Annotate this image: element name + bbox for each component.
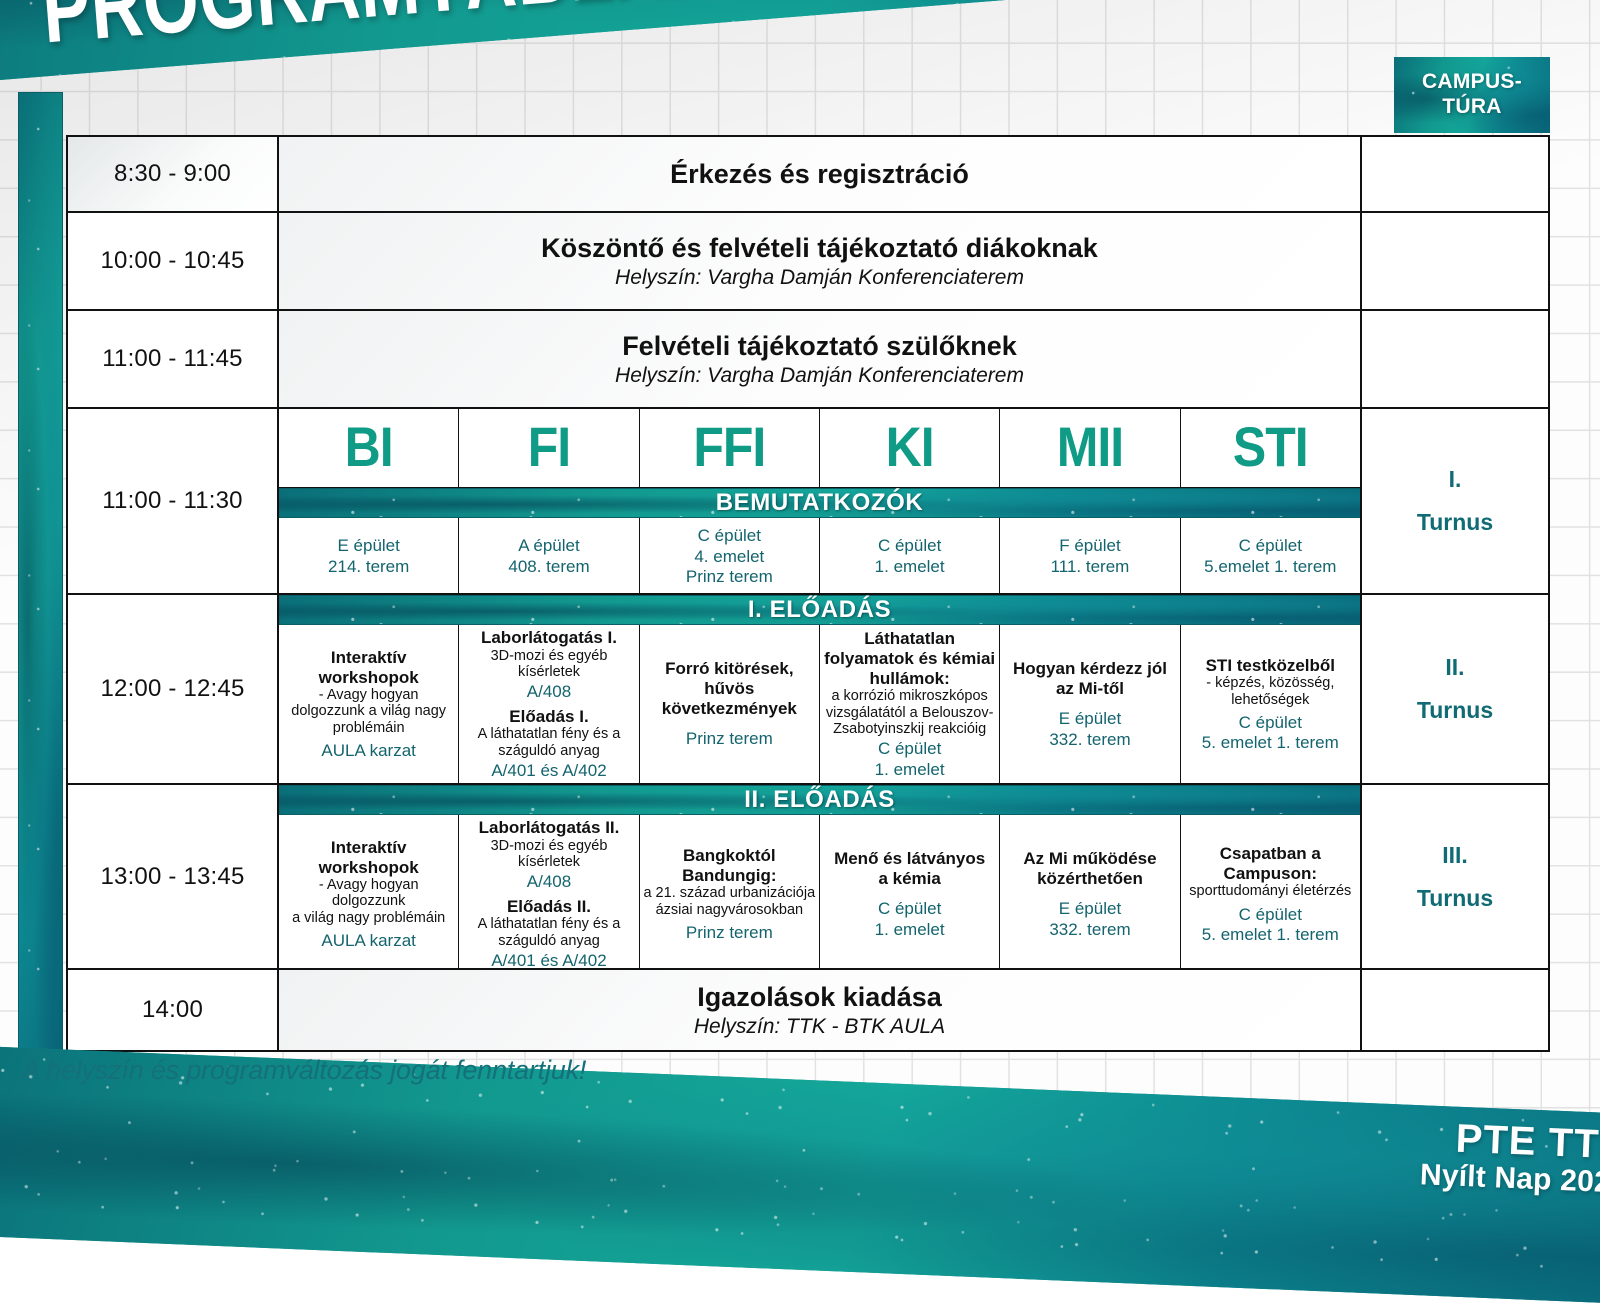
turnus-1-label: Turnus: [1417, 501, 1493, 544]
turnus-2: II. Turnus: [1362, 595, 1548, 783]
program-closing: Igazolások kiadása Helyszín: TTK - BTK A…: [279, 970, 1362, 1050]
closing-location: Helyszín: TTK - BTK AULA: [694, 1015, 945, 1039]
table-row-closing: 14:00 Igazolások kiadása Helyszín: TTK -…: [68, 970, 1548, 1050]
turnus-empty-3: [1362, 311, 1548, 407]
room-ki: C épület1. emelet: [820, 518, 1000, 598]
lecture-1-cell-bi[interactable]: Interaktívworkshopok - Avagy hogyandolgo…: [279, 625, 459, 784]
turnus-3: III. Turnus: [1362, 785, 1548, 968]
table-row-lecture-2: 13:00 - 13:45 II. ELŐADÁS Interaktívwork…: [68, 785, 1548, 970]
turnus-1: I. Turnus: [1362, 409, 1548, 593]
time-parents: 11:00 - 11:45: [68, 311, 279, 407]
turnus-empty-2: [1362, 213, 1548, 309]
parents-location: Helyszín: Vargha Damján Konferenciaterem: [615, 364, 1024, 388]
table-row-arrival: 8:30 - 9:00 Érkezés és regisztráció: [68, 137, 1548, 213]
parents-title: Felvételi tájékoztató szülőknek: [622, 331, 1017, 362]
department-fi[interactable]: FI: [459, 409, 639, 487]
program-table: 8:30 - 9:00 Érkezés és regisztráció 10:0…: [66, 135, 1550, 1052]
campus-tour-header: CAMPUS- TÚRA: [1394, 57, 1550, 133]
campus-tour-label-line1: CAMPUS-: [1422, 70, 1522, 95]
brand-open-day: Nyílt Nap 2026: [1419, 1158, 1600, 1200]
lecture-1-cell-sti[interactable]: STI testközelből - képzés, közösség,lehe…: [1181, 625, 1360, 784]
department-ffi[interactable]: FFI: [640, 409, 820, 487]
lecture-2-cell-ki[interactable]: Menő és látványosa kémia C épület1. emel…: [820, 815, 1000, 974]
turnus-1-number: I.: [1449, 458, 1462, 501]
band-eloadas-1: I. ELŐADÁS: [279, 595, 1360, 625]
lecture-2-cell-mii[interactable]: Az Mi működéseközérthetően E épület332. …: [1000, 815, 1180, 974]
department-ki[interactable]: KI: [820, 409, 1000, 487]
turnus-3-label: Turnus: [1417, 877, 1493, 920]
arrival-title: Érkezés és regisztráció: [670, 159, 969, 190]
closing-title: Igazolások kiadása: [697, 982, 942, 1013]
room-mii: F épület111. terem: [1000, 518, 1180, 598]
campus-tour-label-line2: TÚRA: [1442, 95, 1502, 120]
table-row-lecture-1: 12:00 - 12:45 I. ELŐADÁS Interaktívworks…: [68, 595, 1548, 785]
lecture-2-cell-ffi[interactable]: BangkoktólBandungig: a 21. század urbani…: [640, 815, 820, 974]
lecture-2-cell-fi[interactable]: Laborlátogatás II. 3D-mozi és egyébkísér…: [459, 815, 639, 974]
introduction-rooms-strip: E épület214. terem A épület408. terem C …: [279, 518, 1360, 598]
time-lecture-2: 13:00 - 13:45: [68, 785, 279, 968]
turnus-2-label: Turnus: [1417, 689, 1493, 732]
turnus-3-number: III.: [1442, 834, 1468, 877]
table-row-introductions: 11:00 - 11:30 BI FI FFI KI MII STI BEMUT…: [68, 409, 1548, 595]
left-decorative-strip: [18, 92, 63, 1060]
disclaimer-text: A helyszín és programváltozás jogát fenn…: [22, 1055, 586, 1086]
time-introductions: 11:00 - 11:30: [68, 409, 279, 593]
department-bi[interactable]: BI: [279, 409, 459, 487]
lecture-2-cells: Interaktívworkshopok - Avagy hogyan dolg…: [279, 815, 1360, 974]
room-bi: E épület214. terem: [279, 518, 459, 598]
greeting-location: Helyszín: Vargha Damján Konferenciaterem: [615, 266, 1024, 290]
lecture-1-cell-ki[interactable]: Láthatatlanfolyamatok és kémiaihullámok:…: [820, 625, 1000, 784]
table-row-parents: 11:00 - 11:45 Felvételi tájékoztató szül…: [68, 311, 1548, 409]
lecture-1-cells: Interaktívworkshopok - Avagy hogyandolgo…: [279, 625, 1360, 784]
band-eloadas-2: II. ELŐADÁS: [279, 785, 1360, 815]
department-sti[interactable]: STI: [1181, 409, 1360, 487]
time-greeting: 10:00 - 10:45: [68, 213, 279, 309]
lecture-2-columns: II. ELŐADÁS Interaktívworkshopok - Avagy…: [279, 785, 1362, 968]
turnus-2-number: II.: [1445, 646, 1464, 689]
time-lecture-1: 12:00 - 12:45: [68, 595, 279, 783]
band-bemutatkozok: BEMUTATKOZÓK: [279, 488, 1360, 518]
lecture-1-cell-ffi[interactable]: Forró kitörések,hűvöskövetkezmények Prin…: [640, 625, 820, 784]
room-ffi: C épület4. emeletPrinz terem: [640, 518, 820, 598]
turnus-empty-1: [1362, 137, 1548, 211]
lecture-1-cell-fi[interactable]: Laborlátogatás I. 3D-mozi és egyébkísérl…: [459, 625, 639, 784]
time-arrival: 8:30 - 9:00: [68, 137, 279, 211]
lecture-1-cell-mii[interactable]: Hogyan kérdezz jólaz Mi-től E épület332.…: [1000, 625, 1180, 784]
lecture-2-cell-sti[interactable]: Csapatban aCampuson: sporttudományi élet…: [1181, 815, 1360, 974]
table-row-greeting: 10:00 - 10:45 Köszöntő és felvételi tájé…: [68, 213, 1548, 311]
time-closing: 14:00: [68, 970, 279, 1050]
department-code-strip: BI FI FFI KI MII STI: [279, 409, 1360, 488]
greeting-title: Köszöntő és felvételi tájékoztató diákok…: [541, 233, 1098, 264]
program-arrival: Érkezés és regisztráció: [279, 137, 1362, 211]
program-greeting: Köszöntő és felvételi tájékoztató diákok…: [279, 213, 1362, 309]
lecture-2-cell-bi[interactable]: Interaktívworkshopok - Avagy hogyan dolg…: [279, 815, 459, 974]
room-sti: C épület5.emelet 1. terem: [1181, 518, 1360, 598]
program-parents: Felvételi tájékoztató szülőknek Helyszín…: [279, 311, 1362, 407]
introductions-columns: BI FI FFI KI MII STI BEMUTATKOZÓK E épül…: [279, 409, 1362, 593]
turnus-empty-4: [1362, 970, 1548, 1050]
room-fi: A épület408. terem: [459, 518, 639, 598]
lecture-1-columns: I. ELŐADÁS Interaktívworkshopok - Avagy …: [279, 595, 1362, 783]
department-mii[interactable]: MII: [1000, 409, 1180, 487]
